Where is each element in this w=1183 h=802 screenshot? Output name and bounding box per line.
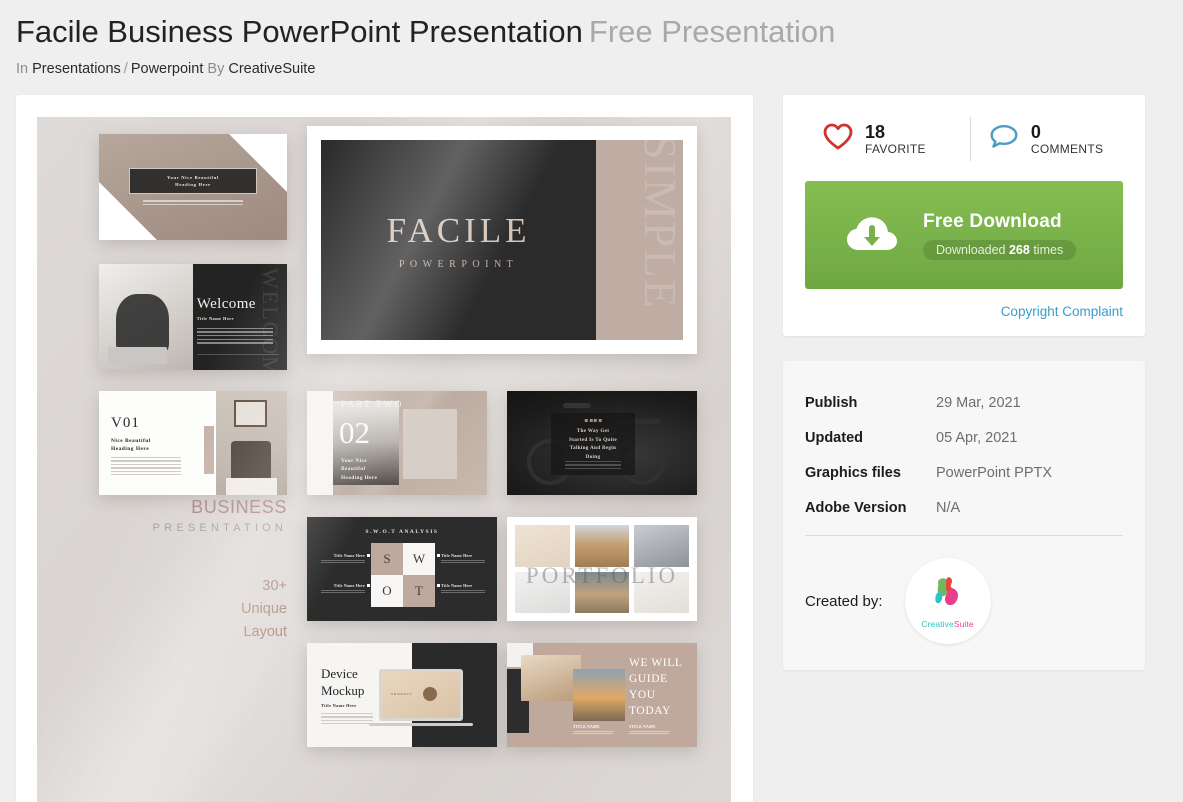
- download-badge-prefix: Downloaded: [936, 243, 1006, 257]
- business-line1: BUSINESS: [147, 497, 287, 518]
- actions-card: 18 FAVORITE 0 COMMENTS: [783, 95, 1145, 336]
- comments-count: 0: [1031, 122, 1103, 142]
- info-divider: [805, 535, 1123, 536]
- comments-stat-text: 0 COMMENTS: [1031, 122, 1103, 157]
- preview-card: Your Nice Beautiful Heading Here Welcome…: [16, 95, 753, 802]
- swot-cell: S: [371, 543, 403, 575]
- created-by-label: Created by:: [805, 593, 883, 610]
- favorite-stat[interactable]: 18 FAVORITE: [783, 122, 926, 157]
- unique-line3: Layout: [187, 621, 287, 644]
- laptop-base: [369, 723, 473, 726]
- slide-dark-panel: FACILE POWERPOINT: [321, 140, 596, 340]
- slide-divider: [197, 354, 280, 355]
- breadcrumb-link-author[interactable]: CreativeSuite: [228, 61, 315, 77]
- download-label: Free Download: [923, 211, 1062, 232]
- page-title: Facile Business PowerPoint PresentationF…: [16, 12, 1183, 52]
- slide-title: S.W.O.T ANALYSIS: [307, 529, 497, 535]
- author-row: Created by: CreativeSuite: [805, 552, 1123, 644]
- slide-quote-text: The Way Get Started Is To Quite Talking …: [557, 427, 629, 461]
- info-value: 05 Apr, 2021: [936, 430, 1017, 446]
- logo-word-part1: Creative: [921, 619, 953, 629]
- slide-heading-line1: Your Nice Beautiful: [167, 174, 219, 181]
- comments-stat[interactable]: 0 COMMENTS: [971, 122, 1103, 157]
- copyright-row: Copyright Complaint: [783, 289, 1145, 336]
- swot-label: Title Name Here: [321, 583, 365, 593]
- favorite-count: 18: [865, 122, 926, 142]
- slide-body-lines: [111, 457, 181, 477]
- preview-image[interactable]: Your Nice Beautiful Heading Here Welcome…: [37, 117, 731, 802]
- preview-slide-quote: The Way Get Started Is To Quite Talking …: [507, 391, 697, 495]
- slide-number: V01: [111, 415, 140, 432]
- cloud-download-icon: [843, 210, 905, 261]
- slide-body-lines: [143, 200, 243, 207]
- unique-line1: 30+: [187, 575, 287, 598]
- slide-quote-box: The Way Get Started Is To Quite Talking …: [551, 413, 635, 475]
- copyright-complaint-link[interactable]: Copyright Complaint: [1001, 304, 1123, 319]
- slide-heading-line2: Heading Here: [175, 181, 211, 188]
- slide-photo-secondary: [403, 409, 457, 479]
- swot-grid: S W O T: [371, 543, 435, 607]
- slide-subtitle: POWERPOINT: [399, 259, 518, 270]
- swot-cell: T: [403, 575, 435, 607]
- slide-photo: [216, 391, 287, 495]
- breadcrumb-link-presentations[interactable]: Presentations: [32, 61, 121, 77]
- info-value: 29 Mar, 2021: [936, 395, 1021, 411]
- slide-photo: [521, 655, 581, 701]
- comments-label: COMMENTS: [1031, 142, 1103, 157]
- swot-label: Title Name Here: [321, 553, 365, 563]
- comment-icon[interactable]: [989, 123, 1019, 155]
- breadcrumb-by-label: By: [207, 61, 224, 77]
- laptop-mockup: PRODUCT: [379, 669, 463, 721]
- swot-label: Title Name Here: [441, 553, 485, 563]
- info-card: Publish 29 Mar, 2021 Updated 05 Apr, 202…: [783, 361, 1145, 670]
- slide-light-panel: [307, 391, 333, 495]
- avatar[interactable]: CreativeSuite: [905, 558, 991, 644]
- slide-inner: FACILE POWERPOINT SIMPLE: [321, 140, 683, 340]
- slide-subtitle: Title Name Here: [197, 316, 234, 321]
- sidebar-column: 18 FAVORITE 0 COMMENTS: [783, 95, 1145, 670]
- slide-column: TITLE NAME: [629, 725, 669, 734]
- slide-heading-box: Your Nice Beautiful Heading Here: [129, 168, 257, 194]
- info-key: Graphics files: [805, 465, 936, 481]
- preview-slide-cover: FACILE POWERPOINT SIMPLE: [307, 126, 697, 354]
- business-line2: PRESENTATION: [147, 522, 287, 534]
- breadcrumb-separator: /: [124, 61, 128, 77]
- preview-slide-welcome: Welcome Title Name Here WELCOME: [99, 264, 287, 370]
- laptop-screen: PRODUCT: [382, 672, 460, 718]
- slide-photo-secondary: [573, 669, 625, 721]
- info-key: Publish: [805, 395, 936, 411]
- slide-body-lines: [565, 461, 621, 471]
- preview-slide-swot: S.W.O.T ANALYSIS S W O T Title Name Here…: [307, 517, 497, 621]
- download-wrapper: Free Download Downloaded 268 times: [783, 181, 1145, 289]
- breadcrumb-in-label: In: [16, 61, 28, 77]
- slide-heading-line1: Your Nice: [341, 458, 367, 464]
- slide-title: FACILE: [387, 211, 531, 251]
- slide-subtitle: Title Name Here: [321, 703, 357, 708]
- slide-heading-line3: Heading Here: [341, 475, 377, 481]
- page-content: Your Nice Beautiful Heading Here Welcome…: [0, 95, 1183, 802]
- preview-slide-part-two: PART TWO 02 Your Nice Beautiful Heading …: [307, 391, 487, 495]
- slide-title: Device Mockup: [321, 665, 364, 699]
- info-row-publish: Publish 29 Mar, 2021: [805, 395, 1123, 411]
- breadcrumb-link-powerpoint[interactable]: Powerpoint: [131, 61, 204, 77]
- info-value: PowerPoint PPTX: [936, 465, 1052, 481]
- slide-vertical-text: SIMPLE: [634, 140, 683, 310]
- slide-number: 02: [339, 415, 370, 451]
- preview-column: Your Nice Beautiful Heading Here Welcome…: [16, 95, 753, 802]
- heart-icon[interactable]: [823, 123, 853, 155]
- slide-ornament: [585, 419, 602, 422]
- slide-heading-line1: Nice Beautiful: [111, 438, 151, 444]
- slide-body-lines: [321, 713, 373, 726]
- slide-heading-line2: Heading Here: [111, 446, 149, 452]
- free-download-button[interactable]: Free Download Downloaded 268 times: [805, 181, 1123, 289]
- page-title-main: Facile Business PowerPoint Presentation: [16, 14, 583, 49]
- download-text: Free Download Downloaded 268 times: [923, 211, 1123, 260]
- logo-wordmark: CreativeSuite: [921, 619, 973, 629]
- slide-column: TITLE NAME: [573, 725, 613, 734]
- slide-overlay-text: PORTFOLIO: [507, 563, 697, 589]
- swot-cell: W: [403, 543, 435, 575]
- creativesuite-logo-icon: [927, 574, 969, 617]
- slide-eyebrow: PART TWO: [341, 400, 404, 410]
- stats-row: 18 FAVORITE 0 COMMENTS: [783, 95, 1145, 181]
- breadcrumb: In Presentations/Powerpoint By CreativeS…: [16, 60, 1183, 78]
- preview-business-text: BUSINESS PRESENTATION: [147, 497, 287, 534]
- preview-slide-hero-heading: Your Nice Beautiful Heading Here: [99, 134, 287, 240]
- unique-line2: Unique: [187, 598, 287, 621]
- slide-title: Welcome: [197, 296, 256, 313]
- swot-label: Title Name Here: [441, 583, 485, 593]
- preview-unique-layout-text: 30+ Unique Layout: [187, 575, 287, 644]
- download-badge-count: 268: [1009, 243, 1030, 257]
- download-badge-suffix: times: [1033, 243, 1063, 257]
- product-detail-page: Facile Business PowerPoint PresentationF…: [0, 0, 1183, 802]
- slide-heading: Nice Beautiful Heading Here: [111, 437, 151, 453]
- swot-cell: O: [371, 575, 403, 607]
- slide-photo: [99, 264, 193, 370]
- logo-word-part2: Suite: [954, 619, 974, 629]
- slide-accent-bar: [204, 426, 214, 474]
- slide-heading-line2: Beautiful: [341, 466, 366, 472]
- info-key: Adobe Version: [805, 500, 936, 516]
- slide-heading: Your Nice Beautiful Heading Here: [341, 457, 377, 482]
- info-value: N/A: [936, 500, 960, 516]
- favorite-stat-text: 18 FAVORITE: [865, 122, 926, 157]
- screen-label: PRODUCT: [391, 692, 412, 696]
- preview-slide-device-mockup: Device Mockup Title Name Here PRODUCT: [307, 643, 497, 747]
- info-row-adobe-version: Adobe Version N/A: [805, 500, 1123, 516]
- info-row-graphics-files: Graphics files PowerPoint PPTX: [805, 465, 1123, 481]
- preview-slide-portfolio: PORTFOLIO: [507, 517, 697, 621]
- slide-accent-panel: SIMPLE: [596, 140, 683, 340]
- preview-slide-guide: WE WILL GUIDE YOU TODAY TITLE NAME TITLE…: [507, 643, 697, 747]
- page-title-subtitle: Free Presentation: [589, 14, 835, 49]
- download-count-badge: Downloaded 268 times: [923, 240, 1076, 260]
- slide-vertical-text: WELCOME: [257, 268, 283, 366]
- page-header: Facile Business PowerPoint PresentationF…: [0, 0, 1183, 78]
- slide-heading: WE WILL GUIDE YOU TODAY: [629, 655, 691, 719]
- favorite-label: FAVORITE: [865, 142, 926, 157]
- preview-slide-v01: V01 Nice Beautiful Heading Here: [99, 391, 287, 495]
- info-key: Updated: [805, 430, 936, 446]
- info-row-updated: Updated 05 Apr, 2021: [805, 430, 1123, 446]
